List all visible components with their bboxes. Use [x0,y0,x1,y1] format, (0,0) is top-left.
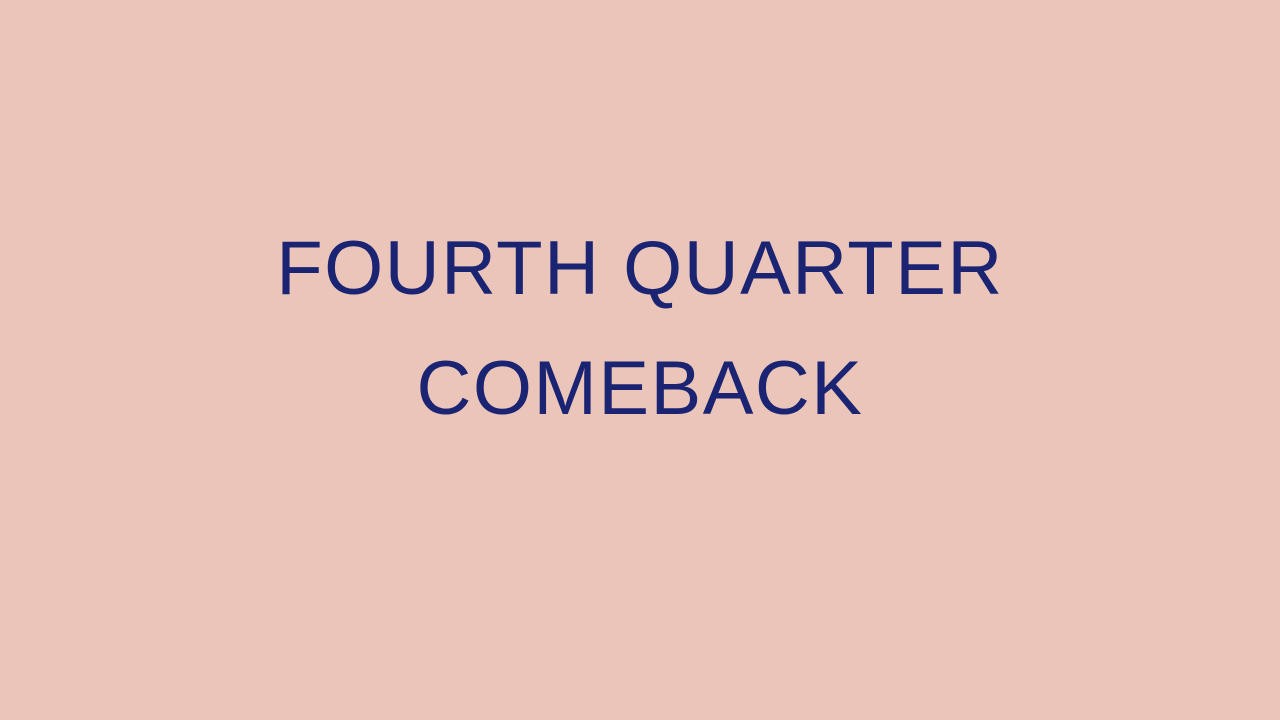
title-block: FOURTH QUARTER COMEBACK [0,209,1280,449]
slide-canvas: FOURTH QUARTER COMEBACK [0,0,1280,720]
title-line-2: COMEBACK [60,329,1220,449]
title-line-1: FOURTH QUARTER [60,209,1220,329]
